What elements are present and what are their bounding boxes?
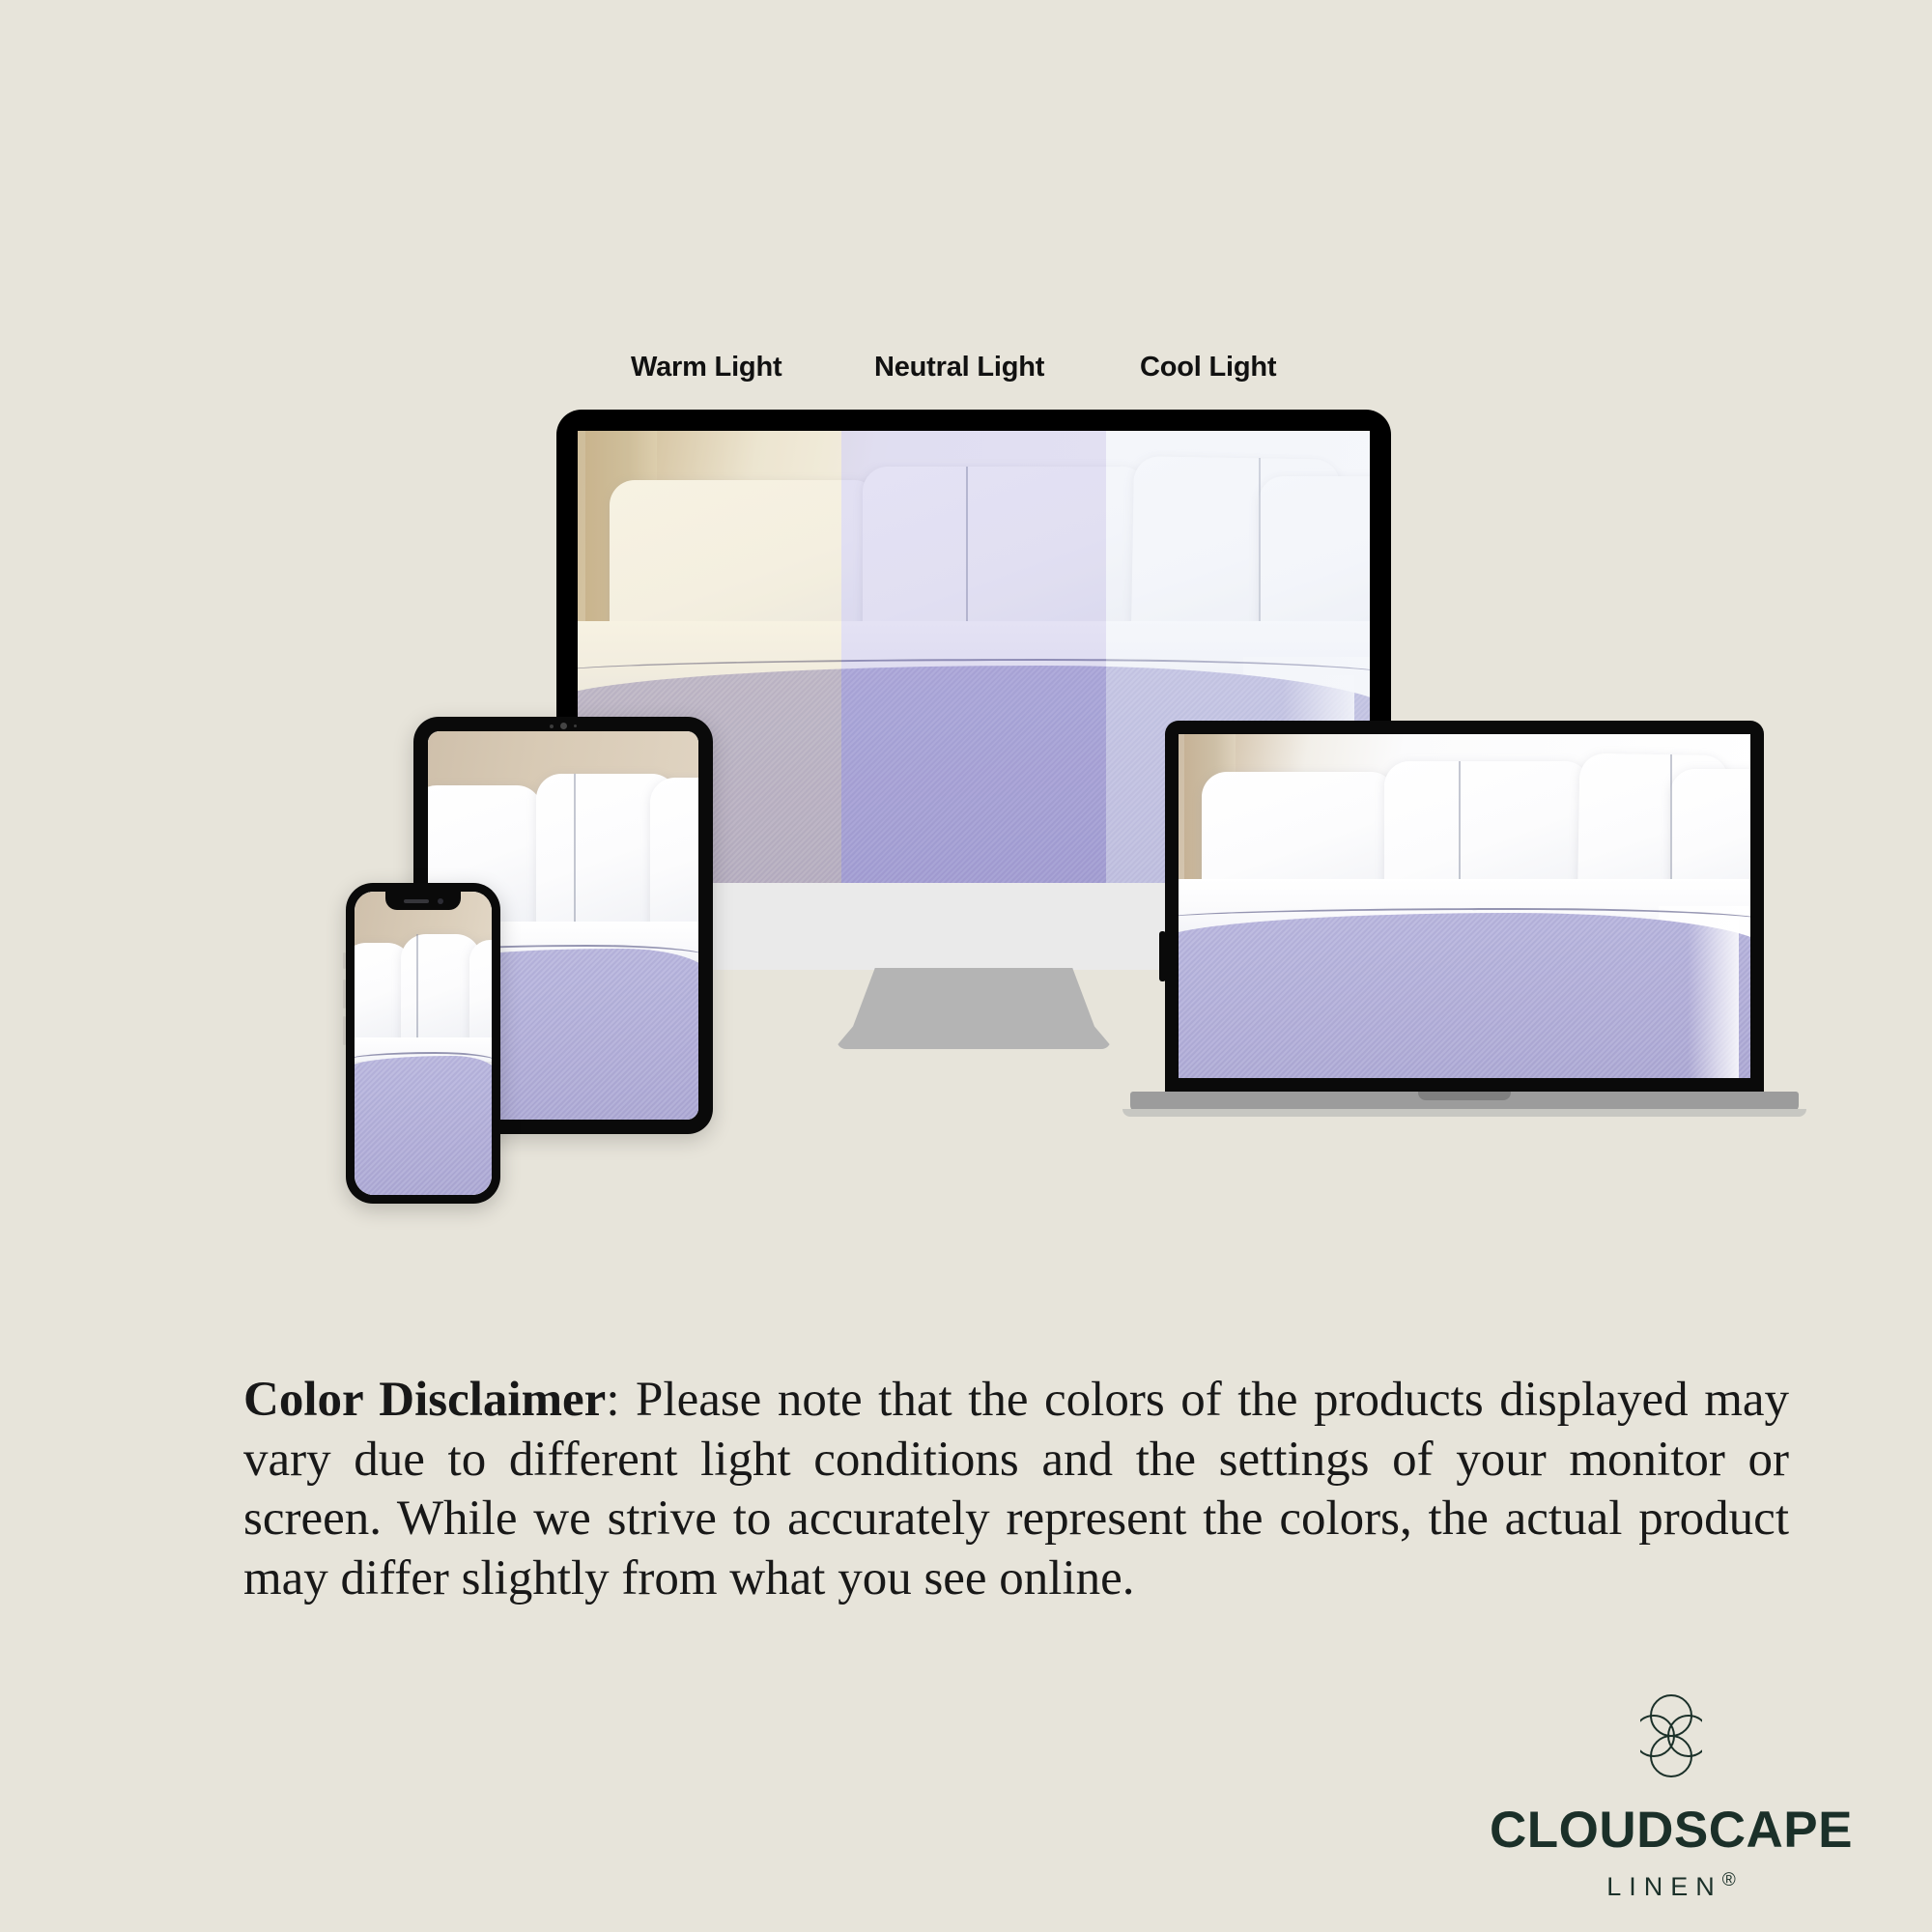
temp-band-neutral	[841, 431, 1105, 883]
phone-screen	[355, 892, 492, 1195]
disclaimer-separator: :	[606, 1373, 636, 1427]
phone-notch	[385, 892, 461, 910]
color-disclaimer: Color Disclaimer: Please note that the c…	[243, 1371, 1789, 1609]
brand-logo: CLOUDSCAPE LINEN®	[1478, 1692, 1864, 1920]
laptop-bezel	[1165, 721, 1764, 1094]
photo-duvet	[1179, 913, 1750, 1078]
registered-trademark-icon: ®	[1722, 1870, 1736, 1890]
logo-subtitle-text: LINEN	[1606, 1872, 1722, 1901]
product-photo-phone	[355, 892, 492, 1195]
phone-bezel	[346, 883, 500, 1204]
phone-camera-icon	[438, 898, 443, 904]
photo-duvet-fold	[1688, 920, 1739, 1078]
photo-duvet-edge	[1179, 908, 1750, 923]
laptop-base-notch	[1418, 1092, 1511, 1100]
phone-device	[346, 883, 500, 1204]
laptop-base-lip	[1122, 1109, 1806, 1117]
logo-subtitle: LINEN®	[1478, 1870, 1864, 1902]
photo-duvet-edge	[355, 1052, 492, 1063]
laptop-screen	[1179, 734, 1750, 1078]
tablet-camera-icon	[550, 723, 577, 729]
laptop-device	[1165, 721, 1764, 1117]
product-photo-laptop	[1179, 734, 1750, 1078]
device-mockup-stage	[0, 0, 1932, 1256]
phone-speaker-icon	[404, 899, 429, 903]
photo-duvet	[355, 1056, 492, 1195]
cloudscape-mark-icon	[1640, 1692, 1702, 1779]
logo-wordmark: CLOUDSCAPE	[1478, 1801, 1864, 1860]
disclaimer-heading: Color Disclaimer	[243, 1373, 606, 1427]
monitor-stand	[837, 968, 1111, 1049]
